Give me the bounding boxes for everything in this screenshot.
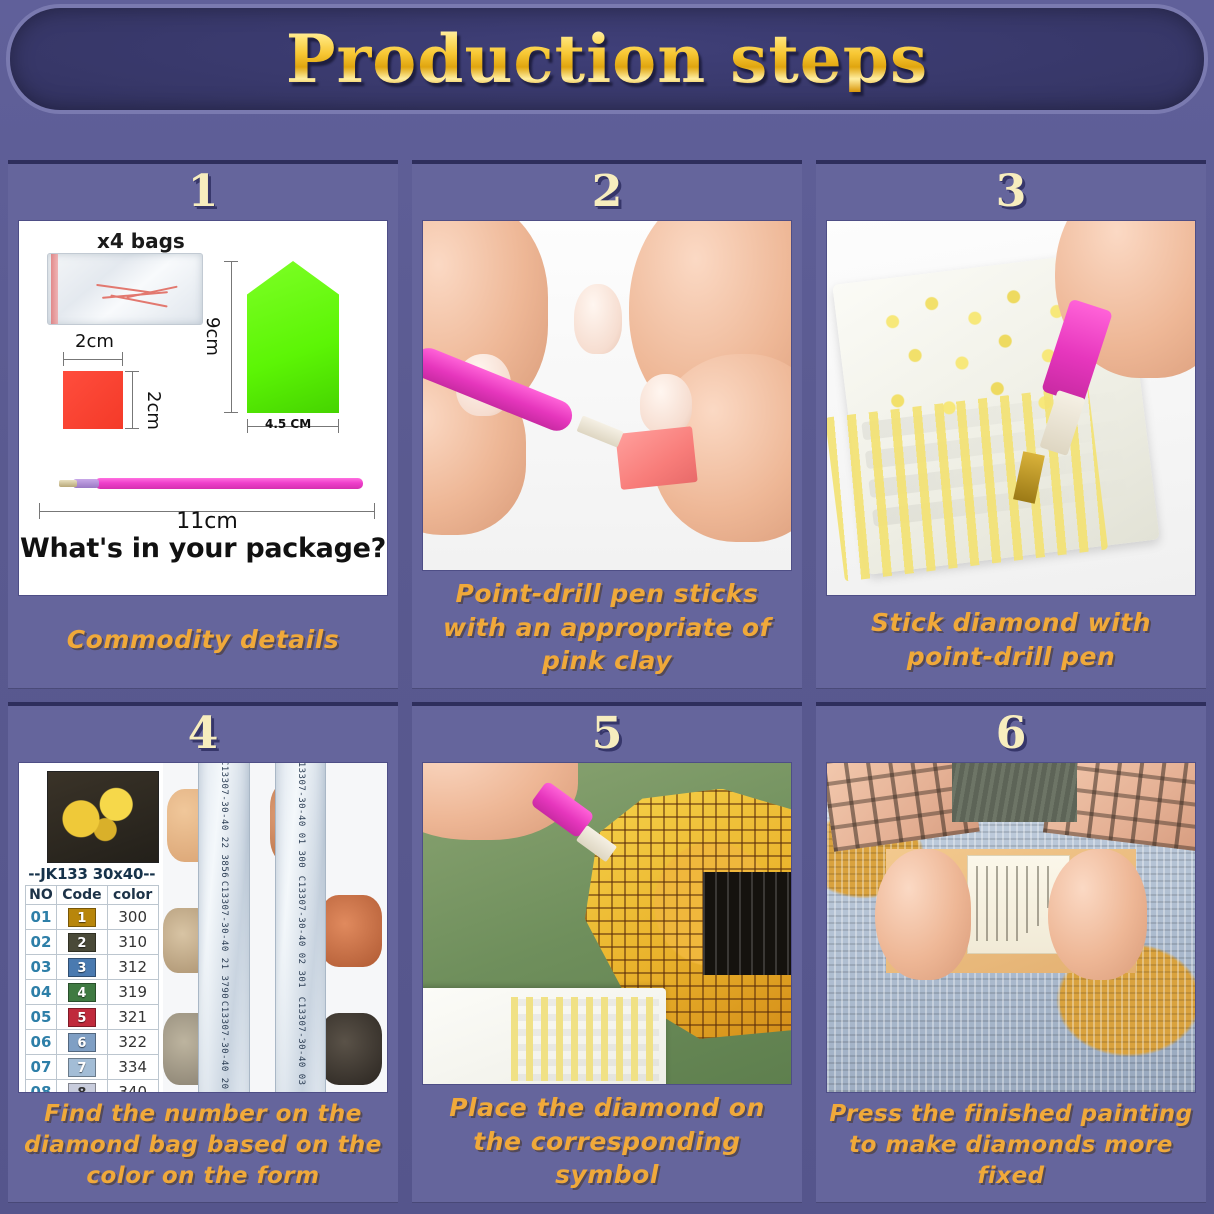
cell-no: 05 [26,1005,57,1030]
cell-color: 319 [107,980,158,1005]
cell-no: 08 [26,1080,57,1093]
step-panel-5: 5 Place the diamond on the corresponding… [412,702,802,1202]
pen-length-label: 11cm [19,509,388,534]
pink-clay-pad [615,426,698,490]
right-thumb-nail [640,374,692,433]
step-4-caption-text: Find the number on the diamond bag based… [18,1099,388,1192]
cell-color: 340 [107,1080,158,1093]
table-row: 07 7 334 [26,1055,159,1080]
photo-placing-diamond-on-canvas [423,763,791,1084]
green-gem-illustration [247,261,339,413]
cell-no: 02 [26,930,57,955]
diamond-bags-photo: C13307-30-40 22 3856 C13307-30-40 21 379… [163,763,387,1092]
sunflower-preview-thumbnail [47,771,159,863]
square-height-label: 2cm [143,391,164,430]
step-1-caption-text: Commodity details [67,623,339,657]
point-drill-pen-illustration [37,469,377,499]
table-header-row: NO Code color [26,886,159,905]
bead-pile [320,1013,383,1085]
gem-width-label: 4.5 CM [265,417,311,431]
cell-code: 4 [56,980,107,1005]
left-hand [875,849,971,981]
cell-no: 07 [26,1055,57,1080]
step-panel-2: 2 Point-dr [412,160,802,688]
photo-pressing-finished-painting [827,763,1195,1092]
sunflower-center-dark [703,872,791,975]
diamond-bag-strip: C13307-30-40 01 300 C13307-30-40 02 301 … [275,763,327,1092]
column-header-color: color [107,886,158,905]
bag-label: C13307-30-40 02 301 [296,876,306,988]
plastic-bag-illustration [47,253,203,325]
table-row: 01 1 300 [26,905,159,930]
step-1-media: x4 bags 2cm [18,220,388,596]
step-6-media [826,762,1196,1093]
step-4-media: --JK133 30x40-- NO Code color [18,762,388,1093]
code-swatch: 2 [68,933,96,952]
bags-count-label: x4 bags [97,229,185,253]
cell-no: 01 [26,905,57,930]
cell-color: 300 [107,905,158,930]
table-row: 06 6 322 [26,1030,159,1055]
gem-height-label: 9cm [202,317,223,356]
cell-color: 322 [107,1030,158,1055]
page-title: Production steps [286,26,928,92]
cell-code: 8 [56,1080,107,1093]
step-panel-6: 6 [816,702,1206,1202]
color-chart-and-bags: --JK133 30x40-- NO Code color [19,763,387,1092]
step-panel-3: 3 Stick diamo [816,160,1206,688]
code-swatch: 6 [68,1033,96,1052]
table-body: 01 1 300 02 2 310 03 [26,905,159,1093]
step-number-3: 3 [816,164,1206,220]
cell-code: 6 [56,1030,107,1055]
table-row: 04 4 319 [26,980,159,1005]
pen-tip [59,480,77,487]
bag-label: C13307-30-40 22 3856 [219,763,229,878]
tray-diamonds [511,997,658,1080]
photo-diamond-tray-pen [827,221,1195,595]
step-3-caption-text: Stick diamond with point-drill pen [826,606,1196,674]
pen-tip-metal [576,416,623,449]
table-row: 03 3 312 [26,955,159,980]
right-hand [1048,849,1147,981]
gem-height-dimension [224,261,238,413]
color-code-table: NO Code color 01 1 300 [25,885,159,1093]
color-chart-column: --JK133 30x40-- NO Code color [19,763,163,1092]
step-5-caption: Place the diamond on the corresponding s… [412,1085,802,1202]
right-index-nail [574,284,622,354]
cell-color: 310 [107,930,158,955]
step-panel-1: 1 x4 bags [8,160,398,688]
cell-no: 03 [26,955,57,980]
step-5-media [422,762,792,1085]
package-question-headline: What's in your package? [19,533,387,564]
code-swatch: 3 [68,958,96,977]
column-header-code: Code [56,886,107,905]
code-swatch: 5 [68,1008,96,1027]
bag-label: C13307-30-40 03 310 [296,997,306,1092]
table-row: 05 5 321 [26,1005,159,1030]
code-swatch: 8 [68,1083,96,1093]
title-banner: Production steps [6,4,1208,114]
bag-label: C13307-30-40 20 1781 [219,1001,229,1092]
square-height-dimension [125,371,139,429]
step-2-caption: Point-drill pen sticks with an appropria… [412,571,802,688]
code-swatch: 7 [68,1058,96,1077]
cell-code: 3 [56,955,107,980]
title-banner-inner: Production steps [10,8,1204,110]
needles-group [96,286,188,304]
cell-color: 312 [107,955,158,980]
step-number-4: 4 [8,706,398,762]
step-number-2: 2 [412,164,802,220]
step-6-caption: Press the finished painting to make diam… [816,1093,1206,1202]
cell-no: 06 [26,1030,57,1055]
cell-code: 2 [56,930,107,955]
cell-color: 334 [107,1055,158,1080]
shirt-torso [952,763,1077,822]
step-2-media [422,220,792,571]
table-row: 02 2 310 [26,930,159,955]
step-number-5: 5 [412,706,802,762]
step-1-caption: Commodity details [8,596,398,688]
production-steps-infographic: Production steps 1 x4 bags [0,0,1214,1214]
step-number-6: 6 [816,706,1206,762]
code-swatch: 1 [68,908,96,927]
step-3-caption: Stick diamond with point-drill pen [816,596,1206,688]
bead-pile [320,895,383,967]
bag-label: C13307-30-40 01 300 [296,763,306,868]
cell-code: 1 [56,905,107,930]
cell-code: 5 [56,1005,107,1030]
step-5-caption-text: Place the diamond on the corresponding s… [422,1091,792,1192]
square-width-dimension [63,352,123,366]
step-6-caption-text: Press the finished painting to make diam… [826,1099,1196,1192]
square-width-label: 2cm [75,331,114,352]
bag-label: C13307-30-40 21 3790 [219,880,229,998]
cell-code: 7 [56,1055,107,1080]
step-panel-4: 4 --JK133 30x40-- NO Code color [8,702,398,1202]
cell-color: 321 [107,1005,158,1030]
code-swatch: 4 [68,983,96,1002]
steps-grid: 1 x4 bags [8,160,1206,1202]
chart-title: --JK133 30x40-- [25,865,159,883]
step-3-media [826,220,1196,596]
photo-hands-pen-clay [423,221,791,570]
package-contents-diagram: x4 bags 2cm [19,221,387,595]
step-4-caption: Find the number on the diamond bag based… [8,1093,398,1202]
diamond-bag-strip: C13307-30-40 22 3856 C13307-30-40 21 379… [198,763,250,1092]
cell-no: 04 [26,980,57,1005]
table-row: 08 8 340 [26,1080,159,1093]
column-header-no: NO [26,886,57,905]
step-number-1: 1 [8,164,398,220]
red-square-illustration [63,371,123,429]
pen-body [95,478,363,489]
step-2-caption-text: Point-drill pen sticks with an appropria… [422,577,792,678]
